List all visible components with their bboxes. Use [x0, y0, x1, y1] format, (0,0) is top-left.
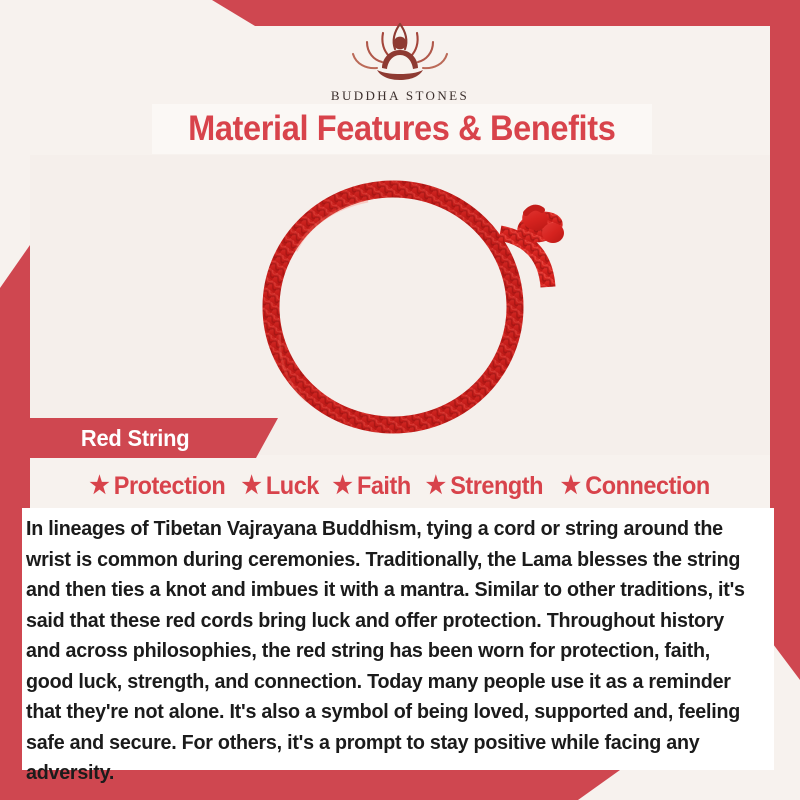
- benefit-label: Connection: [585, 472, 710, 501]
- red-string-bracelet-image: [30, 155, 770, 455]
- infographic-poster: BUDDHA STONES Material Features & Benefi…: [0, 0, 800, 800]
- lotus-meditation-icon: [325, 16, 475, 84]
- benefit-item: ★ Luck: [241, 472, 318, 501]
- star-icon: ★: [333, 474, 353, 498]
- benefit-item: ★ Strength: [426, 472, 543, 501]
- benefit-label: Luck: [266, 472, 319, 501]
- star-icon: ★: [426, 474, 446, 498]
- product-tab-banner: Red String: [24, 418, 278, 458]
- title-banner: Material Features & Benefits: [152, 104, 652, 154]
- benefit-label: Protection: [114, 472, 226, 501]
- description-card: In lineages of Tibetan Vajrayana Buddhis…: [22, 508, 774, 770]
- benefits-list: ★ Protection ★ Luck ★ Faith ★ Strength ★…: [30, 466, 770, 506]
- benefit-label: Strength: [451, 472, 544, 501]
- star-icon: ★: [561, 474, 581, 498]
- benefit-label: Faith: [357, 472, 411, 501]
- description-text: In lineages of Tibetan Vajrayana Buddhis…: [26, 514, 745, 789]
- product-image-area: [30, 155, 770, 455]
- star-icon: ★: [90, 474, 110, 498]
- page-title: Material Features & Benefits: [188, 109, 615, 149]
- benefit-item: ★ Connection: [561, 472, 710, 501]
- product-tab-label: Red String: [81, 425, 190, 452]
- brand-logo: BUDDHA STONES: [0, 16, 800, 104]
- benefit-item: ★ Protection: [90, 472, 226, 501]
- star-icon: ★: [241, 474, 261, 498]
- brand-name: BUDDHA STONES: [0, 88, 800, 104]
- benefit-item: ★ Faith: [333, 472, 411, 501]
